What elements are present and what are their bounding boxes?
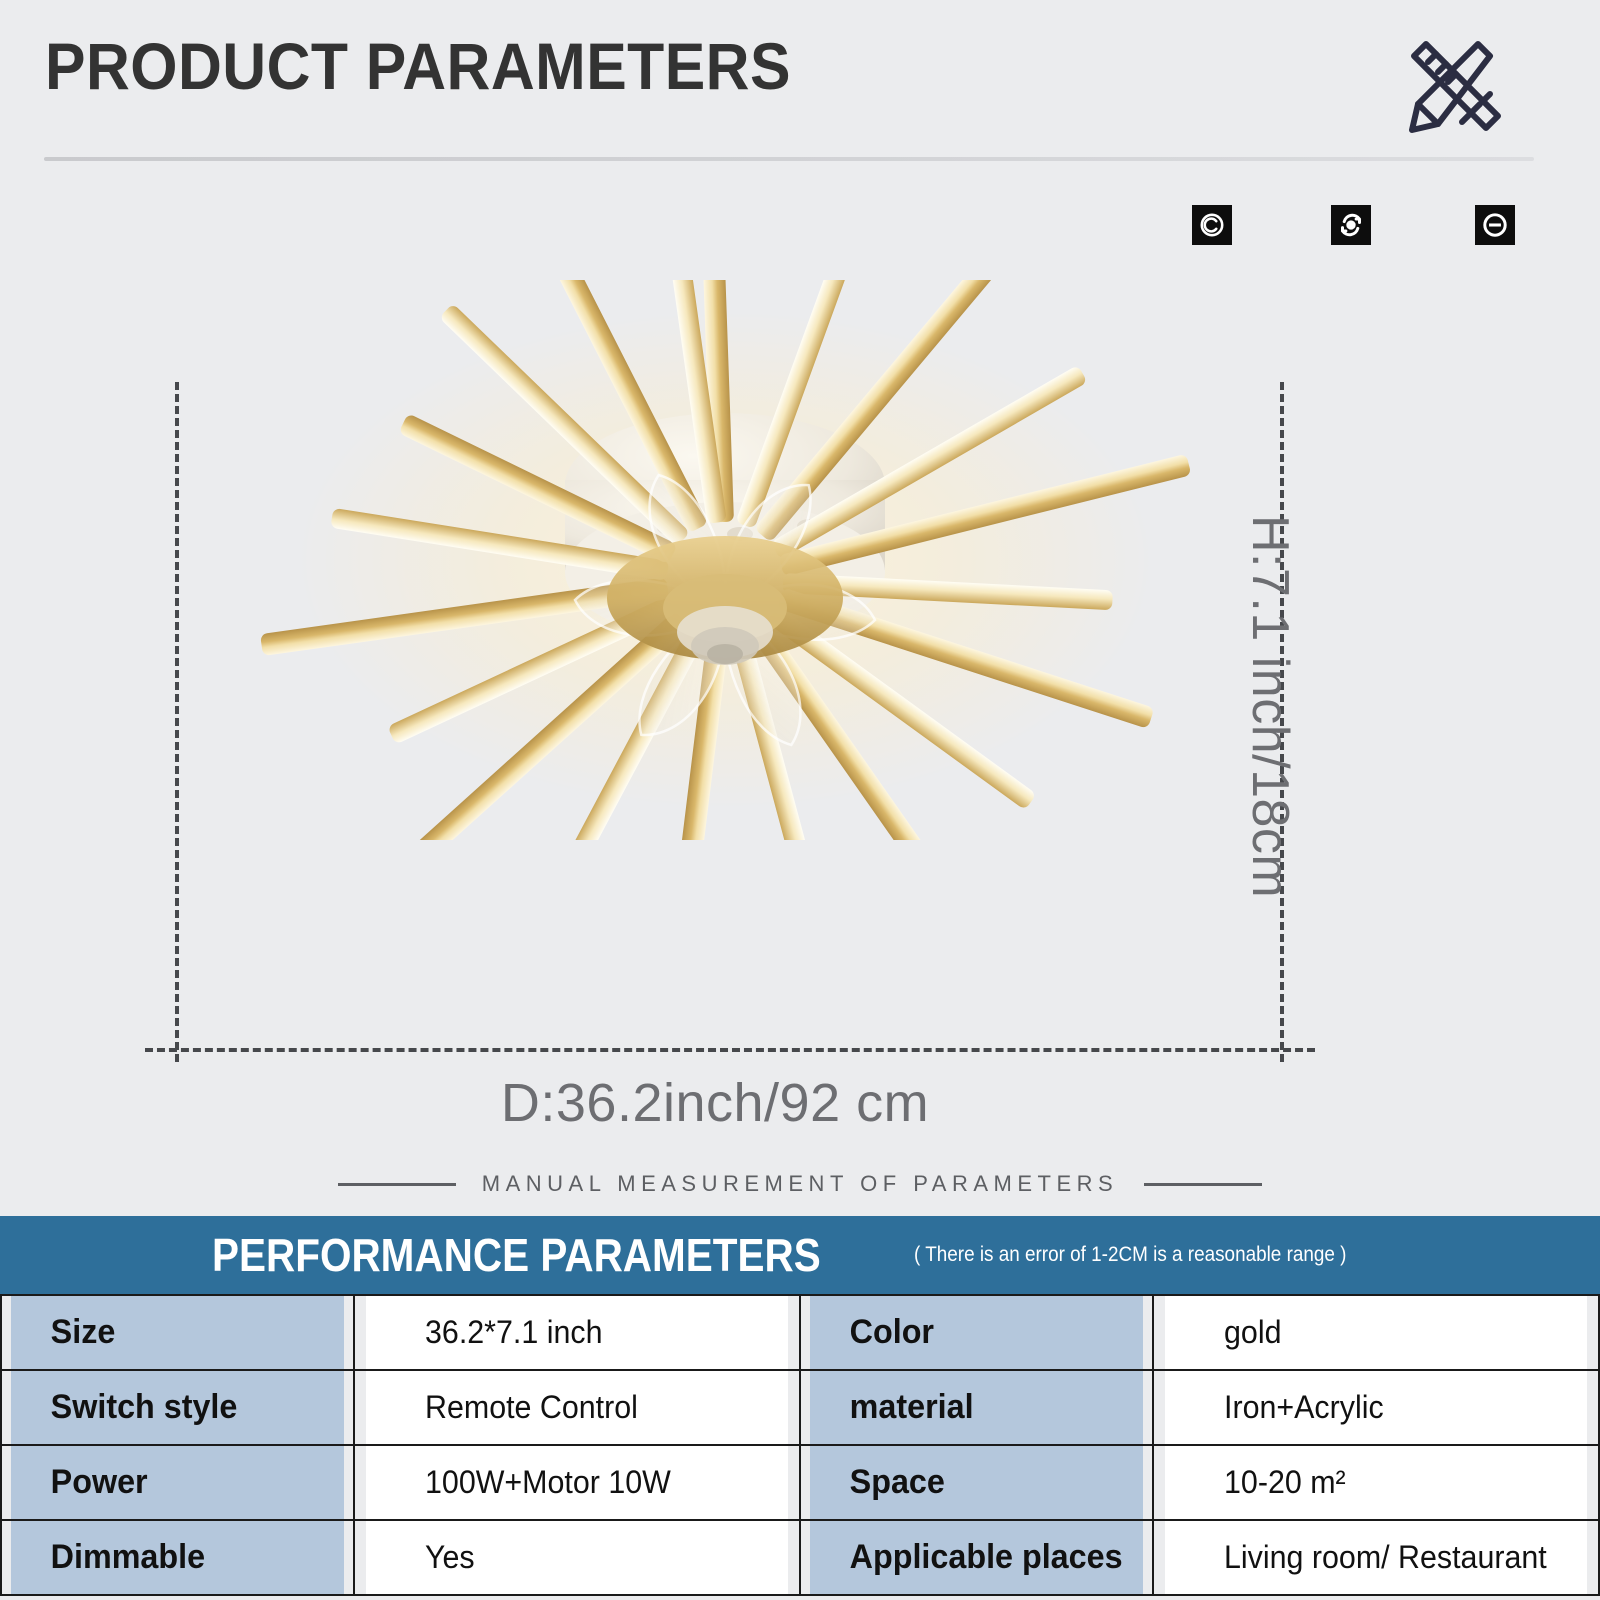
product-dimension-area: H:7.1 inch/18cm D:36.2inch/92 cm: [0, 260, 1600, 1210]
diameter-dimension-label: D:36.2inch/92 cm: [0, 1072, 1430, 1134]
spec-value-dimmable: Yes: [365, 1520, 789, 1595]
spec-value-applicable-places: Living room/ Restaurant: [1164, 1520, 1588, 1595]
product-image-ceiling-fan-light: [180, 280, 1270, 840]
spec-value-color: gold: [1164, 1295, 1588, 1370]
spec-value-power: 100W+Motor 10W: [365, 1445, 789, 1520]
spec-value-switch-style: Remote Control: [365, 1370, 789, 1445]
spec-key-power: Power: [10, 1445, 345, 1520]
spec-value-material: Iron+Acrylic: [1164, 1370, 1588, 1445]
page-title: PRODUCT PARAMETERS: [45, 28, 791, 104]
spec-key-material: material: [809, 1370, 1144, 1445]
ruler-pencil-icon: [1392, 30, 1512, 148]
specification-table: Size 36.2*7.1 inch Color gold Switch sty…: [0, 1294, 1600, 1596]
strip-rule-right: [1144, 1183, 1262, 1186]
recycle-icon: [1331, 205, 1371, 245]
header-divider: [44, 157, 1534, 161]
spec-key-space: Space: [809, 1445, 1144, 1520]
spec-key-size: Size: [10, 1295, 345, 1370]
spec-key-applicable-places: Applicable places: [809, 1520, 1144, 1595]
table-row: Size 36.2*7.1 inch Color gold: [1, 1295, 1599, 1370]
spec-key-dimmable: Dimmable: [10, 1520, 345, 1595]
copyright-icon: [1192, 205, 1232, 245]
performance-parameters-banner: PERFORMANCE PARAMETERS ( There is an err…: [0, 1216, 1600, 1294]
performance-title: PERFORMANCE PARAMETERS: [212, 1228, 821, 1282]
manual-measurement-strip: MANUAL MEASUREMENT OF PARAMETERS: [0, 1162, 1600, 1206]
spec-key-switch-style: Switch style: [10, 1370, 345, 1445]
dimension-line-left: [175, 382, 179, 1062]
spec-key-color: Color: [809, 1295, 1144, 1370]
table-row: Dimmable Yes Applicable places Living ro…: [1, 1520, 1599, 1595]
table-row: Power 100W+Motor 10W Space 10-20 m²: [1, 1445, 1599, 1520]
performance-note: ( There is an error of 1-2CM is a reason…: [914, 1243, 1346, 1267]
manual-measurement-text: MANUAL MEASUREMENT OF PARAMETERS: [482, 1171, 1118, 1197]
strip-rule-left: [338, 1183, 456, 1186]
spec-value-size: 36.2*7.1 inch: [365, 1295, 789, 1370]
minus-circle-icon: [1475, 205, 1515, 245]
dimension-line-bottom: [145, 1048, 1315, 1052]
table-row: Switch style Remote Control material Iro…: [1, 1370, 1599, 1445]
spec-value-space: 10-20 m²: [1164, 1445, 1588, 1520]
header: PRODUCT PARAMETERS: [0, 0, 1600, 260]
